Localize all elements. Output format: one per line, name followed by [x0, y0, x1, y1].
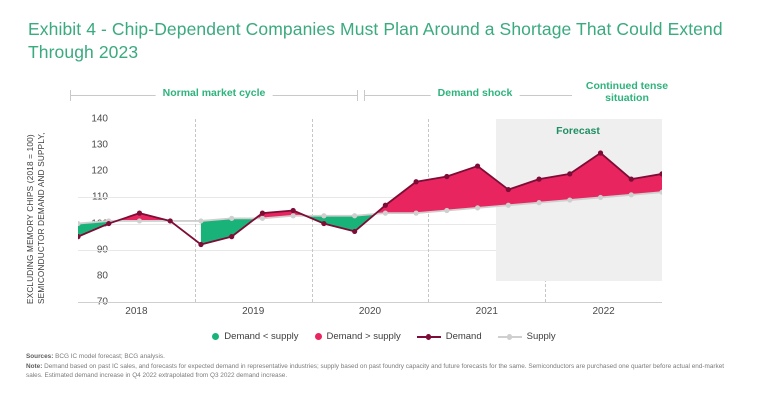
x-axis-tick-label: 2018 — [125, 306, 147, 317]
x-axis-tick-label: 2022 — [592, 306, 614, 317]
legend-label: Supply — [527, 331, 556, 342]
demand-point — [168, 218, 173, 223]
supply-point — [198, 218, 203, 223]
phase-label: Normal market cycle — [156, 87, 273, 99]
phase-bar: Normal market cycle Demand shock Continu… — [70, 82, 662, 110]
legend-swatch-demand-line — [417, 333, 441, 340]
phase-cap-left — [70, 90, 71, 101]
footnotes: Sources: BCG IC model forecast; BCG anal… — [26, 352, 742, 381]
demand-point — [229, 234, 234, 239]
demand-point — [475, 163, 480, 168]
phase-demand-shock: Demand shock — [364, 82, 586, 110]
demand-point — [414, 179, 419, 184]
supply-point — [475, 205, 480, 210]
supply-point — [444, 208, 449, 213]
supply-point — [291, 213, 296, 218]
demand-point — [567, 171, 572, 176]
sources-label: Sources: — [26, 353, 53, 360]
supply-point — [629, 192, 634, 197]
legend-label: Demand — [446, 331, 482, 342]
demand-point — [536, 177, 541, 182]
demand-point — [106, 221, 111, 226]
series-svg — [78, 119, 662, 302]
demand-point — [629, 177, 634, 182]
supply-point — [567, 197, 572, 202]
x-axis-tick-label: 2021 — [476, 306, 498, 317]
supply-point — [506, 203, 511, 208]
note-text: Demand based on past IC sales, and forec… — [26, 363, 724, 380]
y-axis-title-line2: EXCLUDING MEMORY CHIPS (2018 = 100) — [25, 118, 36, 304]
demand-point — [383, 203, 388, 208]
supply-point — [414, 211, 419, 216]
demand-point — [506, 187, 511, 192]
demand-point — [260, 211, 265, 216]
y-axis-title: SEMICONDUCTOR DEMAND AND SUPPLY, EXCLUDI… — [14, 118, 36, 304]
area-demand-below-supply — [201, 218, 256, 244]
demand-point — [137, 211, 142, 216]
y-axis-title-line1: SEMICONDUCTOR DEMAND AND SUPPLY, — [36, 118, 47, 304]
supply-point — [229, 216, 234, 221]
supply-point — [321, 213, 326, 218]
supply-point — [536, 200, 541, 205]
sources-line: Sources: BCG IC model forecast; BCG anal… — [26, 352, 742, 362]
chart-legend: Demand < supply Demand > supply Demand S… — [0, 331, 768, 342]
x-axis-line — [78, 302, 662, 303]
phase-normal-market-cycle: Normal market cycle — [70, 82, 358, 110]
demand-point — [598, 150, 603, 155]
legend-item-demand[interactable]: Demand — [417, 331, 482, 342]
note-line: Note: Demand based on past IC sales, and… — [26, 362, 742, 381]
legend-swatch-green — [212, 333, 219, 340]
chart-page: Exhibit 4 - Chip-Dependent Companies Mus… — [0, 0, 768, 402]
demand-point — [291, 208, 296, 213]
sources-text: BCG IC model forecast; BCG analysis. — [55, 353, 165, 360]
phase-cap-right — [357, 90, 358, 101]
legend-label: Demand < supply — [224, 331, 298, 342]
plot-area — [78, 119, 662, 302]
note-label: Note: — [26, 363, 42, 370]
legend-item-demand-greater-than-supply[interactable]: Demand > supply — [315, 331, 401, 342]
supply-point — [260, 216, 265, 221]
demand-point — [444, 174, 449, 179]
legend-item-supply[interactable]: Supply — [498, 331, 556, 342]
demand-point — [352, 229, 357, 234]
phase-continued-tense-situation: Continued tense situation — [592, 82, 662, 110]
legend-label: Demand > supply — [327, 331, 401, 342]
supply-point — [137, 218, 142, 223]
phase-label: Continued tense situation — [572, 80, 682, 104]
legend-swatch-pink — [315, 333, 322, 340]
legend-item-demand-less-than-supply[interactable]: Demand < supply — [212, 331, 298, 342]
x-axis-tick-label: 2019 — [242, 306, 264, 317]
supply-point — [383, 211, 388, 216]
supply-point — [598, 195, 603, 200]
phase-label: Demand shock — [431, 87, 520, 99]
supply-point — [352, 213, 357, 218]
page-title: Exhibit 4 - Chip-Dependent Companies Mus… — [28, 18, 740, 64]
legend-swatch-supply-line — [498, 333, 522, 340]
phase-cap-left — [364, 90, 365, 101]
demand-point — [321, 221, 326, 226]
demand-point — [198, 242, 203, 247]
x-axis-tick-label: 2020 — [359, 306, 381, 317]
